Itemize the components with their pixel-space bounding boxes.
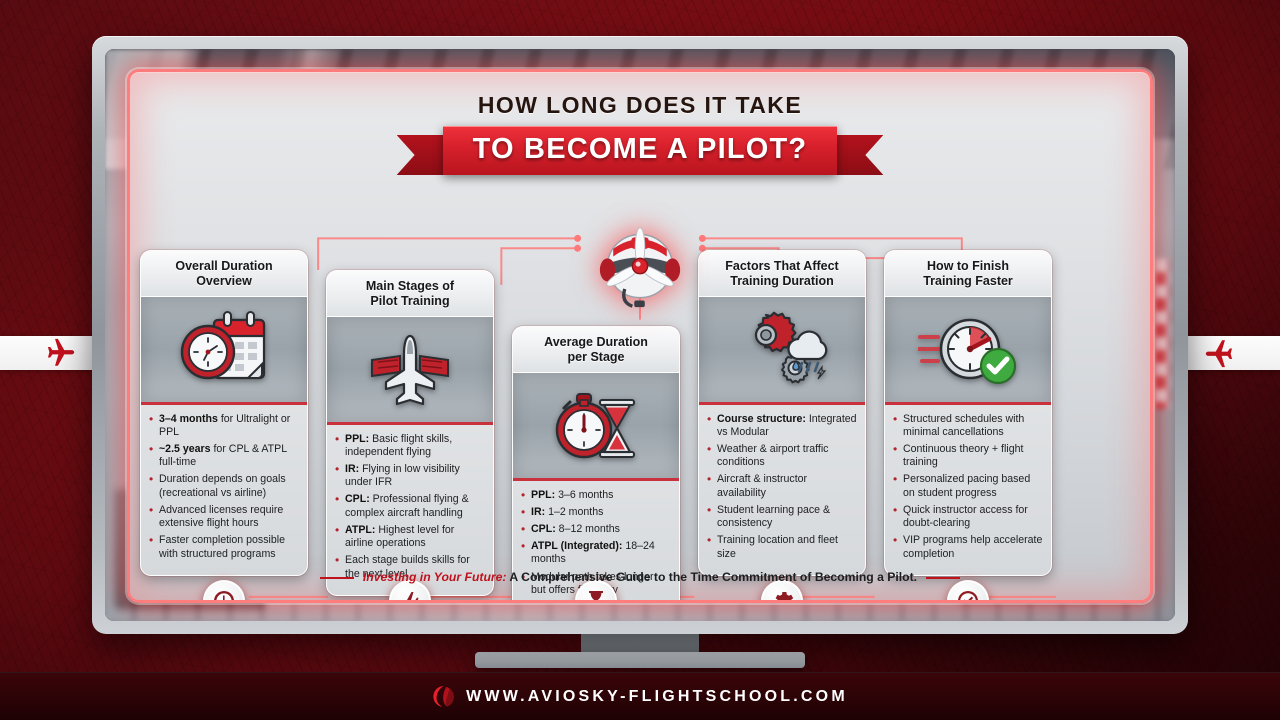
check-circle-icon xyxy=(956,589,980,603)
card-image xyxy=(513,373,679,481)
list-item: IR: 1–2 months xyxy=(520,506,671,519)
list-item: Quick instructor access for doubt-cleari… xyxy=(892,504,1043,530)
card-body: Structured schedules with minimal cancel… xyxy=(885,405,1051,575)
list-item: PPL: Basic flight skills, independent fl… xyxy=(334,433,485,459)
card-heading: Factors That Affect Training Duration xyxy=(699,251,865,297)
stopwatch-hourglass-icon xyxy=(550,386,642,464)
airplane-right-icon xyxy=(43,336,77,370)
card-image xyxy=(327,317,493,425)
list-item: CPL: Professional flying & complex aircr… xyxy=(334,493,485,519)
winged-airplane-icon xyxy=(360,332,460,406)
list-item: ATPL (Integrated): 18–24 months xyxy=(520,540,671,566)
list-item: ~2.5 years for CPL & ATPL full-time xyxy=(148,443,299,469)
card-overall-duration-overview[interactable]: Overall Duration Overview xyxy=(140,250,308,576)
pilot-helmet-propeller-icon xyxy=(592,224,688,310)
list-item: Advanced licenses require extensive flig… xyxy=(148,504,299,530)
card-body: 3–4 months for Ultralight or PPL ~2.5 ye… xyxy=(141,405,307,575)
speedometer-check-icon xyxy=(918,311,1018,387)
hourglass-icon xyxy=(584,589,608,603)
bullet-list: 3–4 months for Ultralight or PPL ~2.5 ye… xyxy=(148,413,299,561)
card-average-duration-per-stage[interactable]: Average Duration per Stage xyxy=(512,326,680,603)
list-item: VIP programs help accelerate completion xyxy=(892,534,1043,560)
aviosky-swoosh-logo xyxy=(432,685,455,708)
list-item: Weather & airport traffic conditions xyxy=(706,443,857,469)
gear-icon xyxy=(770,589,794,603)
dash-right xyxy=(926,577,960,579)
card-image xyxy=(141,297,307,405)
monitor: HOW LONG DOES IT TAKE TO BECOME A PILOT? xyxy=(92,36,1188,672)
monitor-stand-base xyxy=(475,652,805,668)
gears-rain-cloud-icon xyxy=(732,309,832,389)
list-item: Duration depends on goals (recreational … xyxy=(148,473,299,499)
list-item: 3–4 months for Ultralight or PPL xyxy=(148,413,299,439)
clock-calendar-icon xyxy=(178,310,270,388)
website-url: WWW.AVIOSKY-FLIGHTSCHOOL.COM xyxy=(466,688,848,706)
list-item: ATPL: Highest level for airline operatio… xyxy=(334,524,485,550)
card-heading: Main Stages of Pilot Training xyxy=(327,271,493,317)
card-body: Course structure: Integrated vs Modular … xyxy=(699,405,865,575)
card-image xyxy=(699,297,865,405)
list-item: Faster completion possible with structur… xyxy=(148,534,299,560)
list-item: Course structure: Integrated vs Modular xyxy=(706,413,857,439)
card-heading: How to Finish Training Faster xyxy=(885,251,1051,297)
card-image xyxy=(885,297,1051,405)
card-heading: Average Duration per Stage xyxy=(513,327,679,373)
monitor-bezel: HOW LONG DOES IT TAKE TO BECOME A PILOT? xyxy=(92,36,1188,634)
card-factors-that-affect-training-duration[interactable]: Factors That Affect Training Duration xyxy=(698,250,866,576)
dash-left xyxy=(320,577,354,579)
bullet-list: Course structure: Integrated vs Modular … xyxy=(706,413,857,561)
clock-icon xyxy=(212,589,236,603)
infographic-panel: HOW LONG DOES IT TAKE TO BECOME A PILOT? xyxy=(127,69,1153,603)
bullet-list: Structured schedules with minimal cancel… xyxy=(892,413,1043,561)
monitor-screen: HOW LONG DOES IT TAKE TO BECOME A PILOT? xyxy=(105,49,1175,621)
list-item: Personalized pacing based on student pro… xyxy=(892,473,1043,499)
bullet-list: PPL: Basic flight skills, independent fl… xyxy=(334,433,485,581)
list-item: PPL: 3–6 months xyxy=(520,489,671,502)
cards-container: Overall Duration Overview xyxy=(130,72,1150,600)
airplane-icon xyxy=(398,589,422,603)
website-url-bar: WWW.AVIOSKY-FLIGHTSCHOOL.COM xyxy=(0,672,1280,720)
card-main-stages-of-pilot-training[interactable]: Main Stages of Pilot Training xyxy=(326,270,494,596)
card-heading: Overall Duration Overview xyxy=(141,251,307,297)
footer-tagline: Investing in Your Future: A Comprehensiv… xyxy=(130,570,1150,584)
footer-accent: Investing in Your Future: xyxy=(363,570,507,584)
list-item: Structured schedules with minimal cancel… xyxy=(892,413,1043,439)
list-item: CPL: 8–12 months xyxy=(520,523,671,536)
list-item: Continuous theory + flight training xyxy=(892,443,1043,469)
list-item: Student learning pace & consistency xyxy=(706,504,857,530)
footer-text: A Comprehensive Guide to the Time Commit… xyxy=(506,570,917,584)
list-item: IR: Flying in low visibility under IFR xyxy=(334,463,485,489)
airplane-left-icon xyxy=(1203,336,1237,370)
list-item: Aircraft & instructor availability xyxy=(706,473,857,499)
card-how-to-finish-training-faster[interactable]: How to Finish Training Faster xyxy=(884,250,1052,576)
list-item: Training location and fleet size xyxy=(706,534,857,560)
